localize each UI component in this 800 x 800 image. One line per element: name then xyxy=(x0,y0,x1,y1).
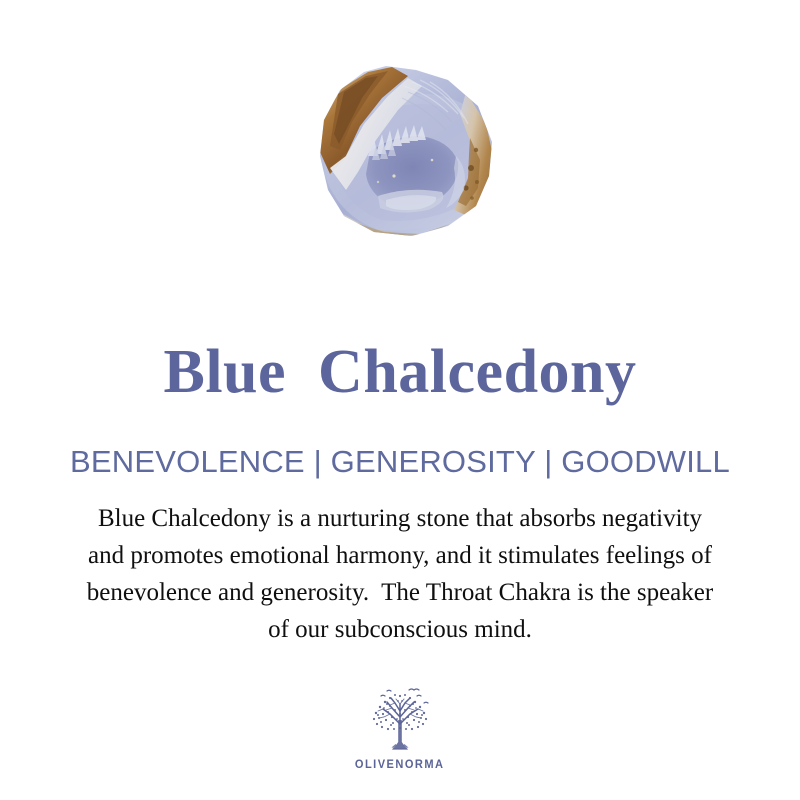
brand-logo: OLIVENORMA xyxy=(0,684,800,771)
product-info-card: Blue Chalcedony BENEVOLENCE | GENEROSITY… xyxy=(0,0,800,800)
description-line: Blue Chalcedony is a nurturing stone tha… xyxy=(20,500,780,537)
keyword-tagline: BENEVOLENCE | GENEROSITY | GOODWILL xyxy=(0,443,800,481)
brand-wordmark: OLIVENORMA xyxy=(355,757,445,771)
page-title: Blue Chalcedony xyxy=(0,336,800,408)
description-line: of our subconscious mind. xyxy=(20,611,780,648)
description-paragraph: Blue Chalcedony is a nurturing stone tha… xyxy=(20,500,780,648)
blue-chalcedony-stone-illustration xyxy=(308,64,502,242)
description-line: benevolence and generosity. The Throat C… xyxy=(20,574,780,611)
hero-stone-image xyxy=(308,64,502,242)
description-line: and promotes emotional harmony, and it s… xyxy=(20,537,780,574)
tree-of-life-icon xyxy=(357,684,443,756)
